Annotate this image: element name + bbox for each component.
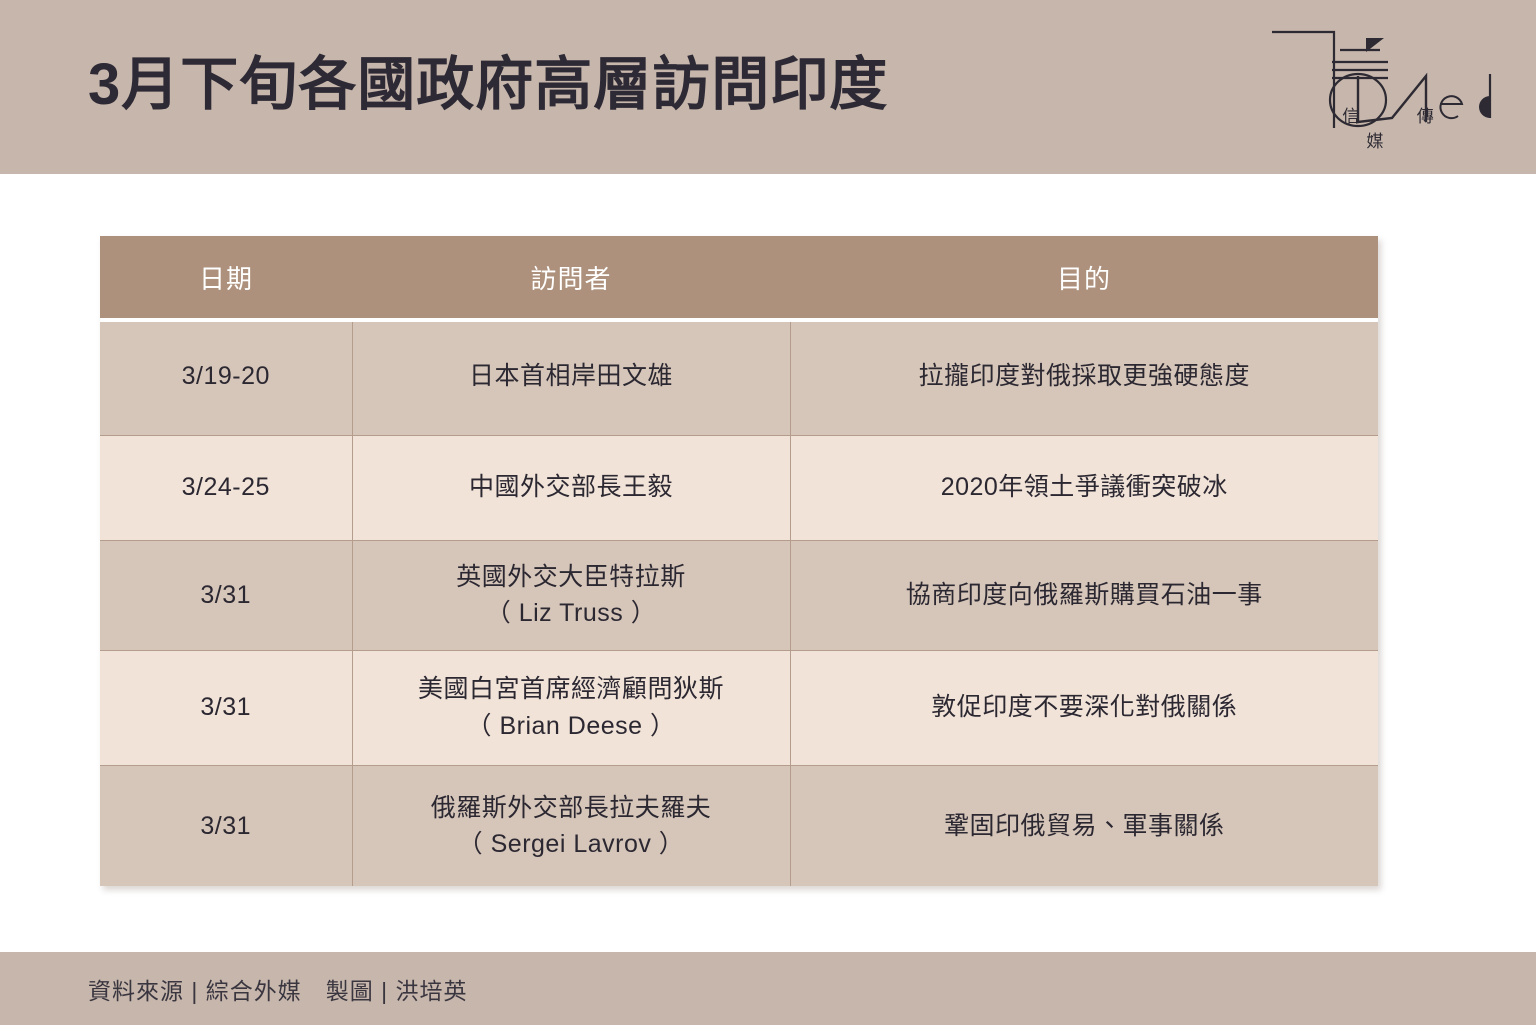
table-row: 3/19-20 日本首相岸田文雄 拉攏印度對俄採取更強硬態度 <box>100 318 1378 435</box>
cell-visitor: 美國白宮首席經濟顧問狄斯 （ Brian Deese ） <box>352 650 790 765</box>
cell-date: 3/31 <box>100 540 352 650</box>
header-body-divider <box>100 318 1378 322</box>
visitor-name-cn: 日本首相岸田文雄 <box>367 358 776 394</box>
cell-purpose: 協商印度向俄羅斯購買石油一事 <box>790 540 1378 650</box>
footer-band: 資料來源 | 綜合外媒 製圖 | 洪培英 <box>0 952 1536 1025</box>
visitor-name-cn: 俄羅斯外交部長拉夫羅夫 <box>367 790 776 826</box>
cell-visitor: 英國外交大臣特拉斯 （ Liz Truss ） <box>352 540 790 650</box>
table-header-row: 日期 訪問者 目的 <box>100 236 1378 318</box>
table-row: 3/31 英國外交大臣特拉斯 （ Liz Truss ） 協商印度向俄羅斯購買石… <box>100 540 1378 650</box>
table-header: 日期 訪問者 目的 <box>100 236 1378 318</box>
visitor-name-latin: （ Liz Truss ） <box>367 595 776 631</box>
table-row: 3/31 俄羅斯外交部長拉夫羅夫 （ Sergei Lavrov ） 鞏固印俄貿… <box>100 765 1378 886</box>
column-header-purpose: 目的 <box>790 236 1378 318</box>
header-band: 3月下旬各國政府高層訪問印度 <box>0 0 1536 174</box>
table-row: 3/24-25 中國外交部長王毅 2020年領土爭議衝突破冰 <box>100 435 1378 540</box>
cell-visitor: 俄羅斯外交部長拉夫羅夫 （ Sergei Lavrov ） <box>352 765 790 886</box>
cell-date: 3/31 <box>100 765 352 886</box>
table-body: 3/19-20 日本首相岸田文雄 拉攏印度對俄採取更強硬態度 3/24-25 中… <box>100 318 1378 886</box>
cell-visitor: 日本首相岸田文雄 <box>352 318 790 435</box>
visitor-name-latin: （ Brian Deese ） <box>367 708 776 744</box>
visitor-name-cn: 英國外交大臣特拉斯 <box>367 559 776 595</box>
cell-purpose: 敦促印度不要深化對俄關係 <box>790 650 1378 765</box>
visitor-name-cn: 中國外交部長王毅 <box>367 469 776 505</box>
cell-purpose: 鞏固印俄貿易、軍事關係 <box>790 765 1378 886</box>
cell-purpose: 拉攏印度對俄採取更強硬態度 <box>790 318 1378 435</box>
cell-purpose: 2020年領土爭議衝突破冰 <box>790 435 1378 540</box>
visits-table: 日期 訪問者 目的 3/19-20 日本首相岸田文雄 拉攏印度對俄採取更強硬態度… <box>100 236 1378 886</box>
cell-date: 3/31 <box>100 650 352 765</box>
cell-date: 3/24-25 <box>100 435 352 540</box>
cell-visitor: 中國外交部長王毅 <box>352 435 790 540</box>
cmedia-logo: 信 傳 媒 <box>1262 18 1502 158</box>
table-row: 3/31 美國白宮首席經濟顧問狄斯 （ Brian Deese ） 敦促印度不要… <box>100 650 1378 765</box>
column-header-visitor: 訪問者 <box>352 236 790 318</box>
visitor-name-latin: （ Sergei Lavrov ） <box>367 826 776 862</box>
visits-table-container: 日期 訪問者 目的 3/19-20 日本首相岸田文雄 拉攏印度對俄採取更強硬態度… <box>100 236 1378 886</box>
column-header-date: 日期 <box>100 236 352 318</box>
cell-date: 3/19-20 <box>100 318 352 435</box>
visitor-name-cn: 美國白宮首席經濟顧問狄斯 <box>367 671 776 707</box>
infographic-page: 3月下旬各國政府高層訪問印度 <box>0 0 1536 1025</box>
logo-subtitle: 信 傳 媒 <box>1288 102 1488 152</box>
source-credit: 資料來源 | 綜合外媒 製圖 | 洪培英 <box>88 972 468 1006</box>
page-title: 3月下旬各國政府高層訪問印度 <box>88 52 888 119</box>
